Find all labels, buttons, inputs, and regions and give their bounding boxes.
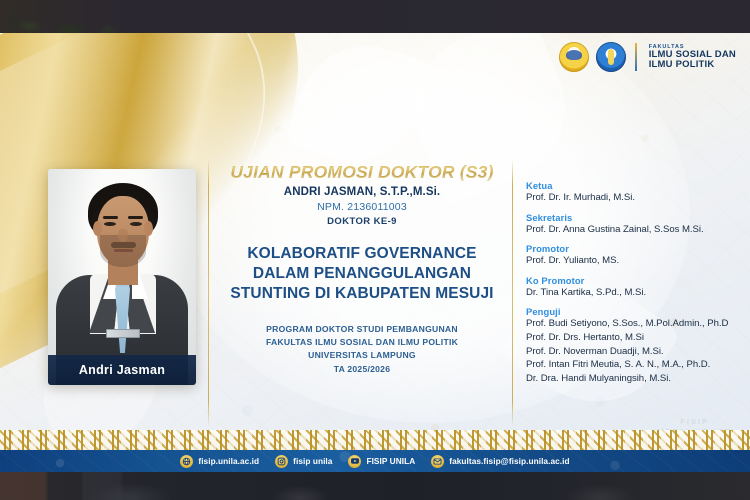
committee-member: Prof. Dr. Yulianto, MS. [526,254,748,268]
dissertation-title: KOLABORATIF GOVERNANCE DALAM PENANGGULAN… [214,244,510,303]
program-affiliation: PROGRAM DOKTOR STUDI PEMBANGUNAN FAKULTA… [214,323,510,376]
committee-member: Dr. Tina Kartika, S.Pd., M.Si. [526,286,748,300]
center-column: UJIAN PROMOSI DOKTOR (S3) ANDRI JASMAN, … [214,163,510,376]
npm-number: NPM. 2136011003 [214,201,510,213]
title-line-3: STUNTING DI KABUPATEN MESUJI [214,284,510,304]
footer-contact-label: fisip unila [293,456,332,466]
moustache [111,242,136,248]
committee-role-label: Promotor [526,243,748,254]
faculty-line-2: ILMU POLITIK [649,60,736,70]
foliage-silhouette [0,0,130,33]
nose [118,229,128,242]
committee-member: Prof. Dr. Noverman Duadji, M.Si. [526,345,748,359]
footer-contact-label: fakultas.fisip@fisip.unila.ac.id [449,456,569,466]
committee-member: Dr. Dra. Handi Mulyaningsih, M.Si. [526,372,748,386]
ear-right [144,221,153,236]
committee-member: Prof. Intan Fitri Meutia, S. A. N., M.A.… [526,358,748,372]
tut-wuri-handayani-emblem-icon [559,42,589,72]
watermark-line-1: FISIP [657,417,732,427]
committee-member: Prof. Dr. Ir. Murhadi, M.Si. [526,191,748,205]
ear-left [93,221,102,236]
name-plate: Andri Jasman [48,355,196,385]
footer-contact-item[interactable]: fisip.unila.ac.id [180,455,259,468]
youtube-icon [348,455,361,468]
committee-role-label: Ketua [526,180,748,191]
footer-contact-label: FISIP UNILA [366,456,415,466]
committee-role-label: Sekretaris [526,212,748,223]
globe-icon [180,455,193,468]
footer-contact-label: fisip.unila.ac.id [198,456,259,466]
bottom-letterbox-bar [0,472,750,500]
program-line-1: PROGRAM DOKTOR STUDI PEMBANGUNAN [214,323,510,336]
committee-role-label: Ko Promotor [526,275,748,286]
committee-member: Prof. Dr. Anna Gustina Zainal, S.Sos M.S… [526,223,748,237]
title-line-2: DALAM PENANGGULANGAN [214,264,510,284]
divider-right [512,159,513,427]
email-icon [431,455,444,468]
event-kicker: UJIAN PROMOSI DOKTOR (S3) [214,163,510,181]
footer-contact-item[interactable]: fisip unila [275,455,332,468]
program-line-4: TA 2025/2026 [214,363,510,376]
committee-column: KetuaProf. Dr. Ir. Murhadi, M.Si.Sekreta… [526,180,748,385]
faculty-wordmark: FAKULTAS ILMU SOSIAL DAN ILMU POLITIK [649,45,736,70]
poster-canvas: FAKULTAS ILMU SOSIAL DAN ILMU POLITIK [0,33,750,472]
candidate-fullname: ANDRI JASMAN, S.T.P.,M.Si. [214,186,510,198]
logo-divider [635,43,637,71]
title-line-1: KOLABORATIF GOVERNANCE [214,244,510,264]
top-letterbox-bar [0,0,750,33]
eye-right [130,222,142,226]
eyebrow-left [103,216,118,219]
instagram-icon [275,455,288,468]
committee-role-label: Penguji [526,306,748,317]
contact-footer-bar: fisip.unila.ac.idfisip unilaFISIP UNILAf… [0,450,750,472]
poster-screenshot: FAKULTAS ILMU SOSIAL DAN ILMU POLITIK [0,0,750,500]
eyebrow-right [128,216,143,219]
divider-left [208,159,209,427]
mouth [114,249,133,252]
committee-member: Prof. Dr. Drs. Hertanto, M.Si [526,331,748,345]
footer-contact-item[interactable]: FISIP UNILA [348,455,415,468]
candidate-name-label: Andri Jasman [79,363,165,377]
name-badge [106,329,140,338]
universitas-lampung-emblem-icon [596,42,626,72]
eye-left [104,222,116,226]
program-line-3: UNIVERSITAS LAMPUNG [214,349,510,362]
batik-border-strip [0,430,750,452]
committee-member: Prof. Budi Setiyono, S.Sos., M.Pol.Admin… [526,317,748,331]
footer-contact-item[interactable]: fakultas.fisip@fisip.unila.ac.id [431,455,569,468]
program-line-2: FAKULTAS ILMU SOSIAL DAN ILMU POLITIK [214,336,510,349]
candidate-photo: Andri Jasman [48,169,196,385]
faculty-logo-lockup: FAKULTAS ILMU SOSIAL DAN ILMU POLITIK [559,42,736,72]
doctor-number: DOKTOR KE-9 [214,216,510,227]
